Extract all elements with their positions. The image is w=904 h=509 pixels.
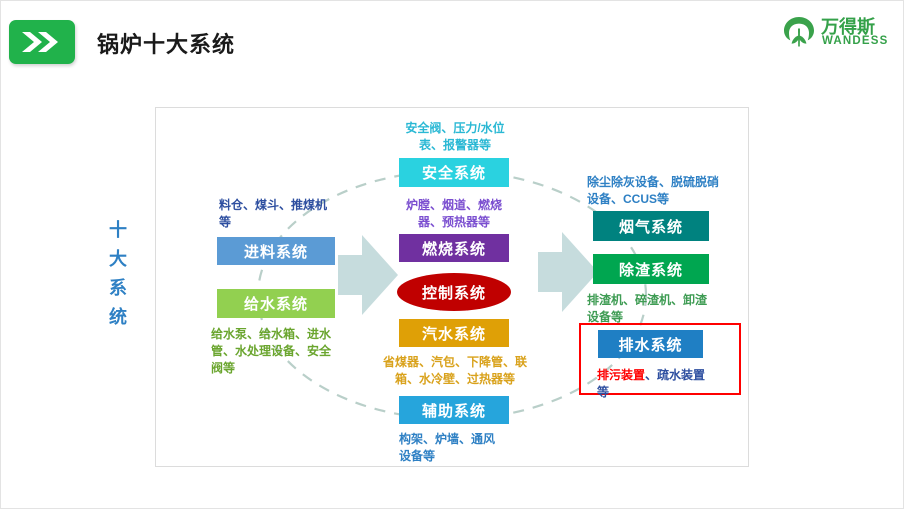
double-chevron-badge — [9, 20, 75, 64]
diagram-side-label: 十 大 系 统 — [105, 216, 131, 332]
water-supply-system-box[interactable]: 给水系统 — [217, 289, 335, 318]
steam-water-system-box[interactable]: 汽水系统 — [399, 319, 509, 347]
drainage-system-caption: 排污装置、疏水装置等 — [597, 367, 715, 401]
drainage-caption-red-part: 排污装置 — [597, 368, 645, 382]
combustion-system-box[interactable]: 燃烧系统 — [399, 234, 509, 262]
steam-water-system-caption: 省煤器、汽包、下降管、联箱、水冷壁、过热器等 — [379, 354, 531, 388]
side-label-char-3: 系 — [105, 274, 131, 303]
brand-logo: 万得斯 WANDESS — [781, 11, 889, 57]
feed-system-caption: 料仓、煤斗、推煤机等 — [219, 197, 335, 231]
auxiliary-system-caption: 构架、炉墙、通风设备等 — [399, 431, 505, 465]
safety-system-box[interactable]: 安全系统 — [399, 158, 509, 187]
combustion-system-caption: 炉膛、烟道、燃烧器、预热器等 — [397, 197, 511, 231]
side-label-char-1: 十 — [105, 216, 131, 245]
slag-removal-system-caption: 排渣机、碎渣机、卸渣设备等 — [587, 292, 717, 326]
wandess-leaf-logo-icon — [781, 15, 817, 54]
slag-removal-system-box[interactable]: 除渣系统 — [593, 254, 709, 284]
control-system-ellipse[interactable]: 控制系统 — [397, 273, 511, 311]
slide-root: 锅炉十大系统 万得斯 WANDESS 十 大 系 统 — [0, 0, 904, 509]
water-supply-system-caption: 给水泵、给水箱、进水管、水处理设备、安全阀等 — [211, 326, 335, 377]
slide-header: 锅炉十大系统 万得斯 WANDESS — [1, 1, 904, 81]
safety-system-caption: 安全阀、压力/水位表、报警器等 — [397, 120, 513, 154]
logo-text-en: WANDESS — [822, 35, 889, 47]
auxiliary-system-box[interactable]: 辅助系统 — [399, 396, 509, 424]
page-title: 锅炉十大系统 — [97, 27, 235, 59]
flue-gas-system-caption: 除尘除灰设备、脱硫脱硝设备、CCUS等 — [587, 174, 729, 208]
drainage-system-box[interactable]: 排水系统 — [598, 330, 703, 358]
flue-gas-system-box[interactable]: 烟气系统 — [593, 211, 709, 241]
feed-system-box[interactable]: 进料系统 — [217, 237, 335, 265]
side-label-char-2: 大 — [105, 245, 131, 274]
side-label-char-4: 统 — [105, 303, 131, 332]
